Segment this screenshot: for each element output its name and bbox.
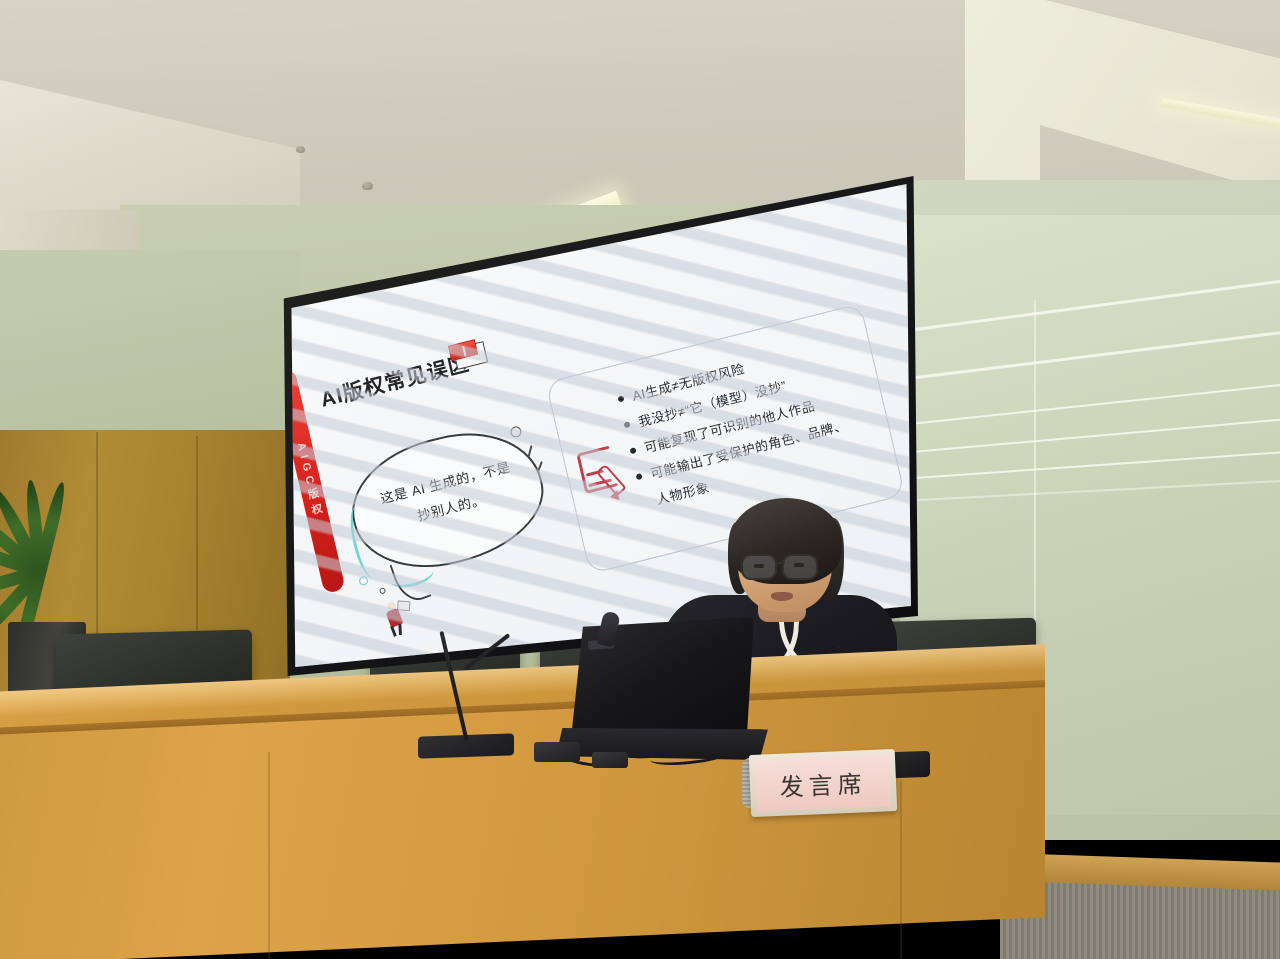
speech-bubble: 这是 AI 生成的，不是 抄别人的。 xyxy=(340,415,556,585)
mouth xyxy=(771,592,793,601)
nameplate: 发言席 xyxy=(749,749,897,817)
decorative-dash xyxy=(528,445,533,457)
podium-desk-front xyxy=(0,687,1045,959)
eye xyxy=(794,563,804,567)
vcg-logo-text: VCG xyxy=(704,180,739,202)
nameplate-insert: 发言席 xyxy=(755,754,891,812)
decorative-dot xyxy=(509,425,522,438)
slide-side-tab-label: AIGC版权 xyxy=(293,441,326,521)
left-wall-upper xyxy=(0,250,300,450)
sprinkler-head-icon xyxy=(296,146,305,153)
decorative-dot xyxy=(358,575,369,586)
mini-person-illustration xyxy=(379,599,412,640)
bullet-dot-icon xyxy=(624,421,631,428)
vcg-flower-mark-icon xyxy=(740,176,780,201)
bullet-dot-icon xyxy=(630,447,637,454)
desk-device[interactable] xyxy=(592,752,628,768)
slide-title: AI版权常见误区 xyxy=(317,348,472,414)
decorative-dot xyxy=(379,587,386,594)
glasses-bridge xyxy=(776,562,785,564)
bullet-dot-icon xyxy=(636,473,643,480)
bullet-dot-icon xyxy=(617,395,624,402)
potted-palm-plant xyxy=(0,505,125,635)
decorative-dash xyxy=(537,461,543,473)
eye xyxy=(754,564,764,568)
nameplate-text: 发言席 xyxy=(779,764,867,803)
desk-panel-seam xyxy=(268,752,270,959)
warning-screen-icon xyxy=(448,337,490,372)
desk-panel-seam xyxy=(900,780,902,959)
glasses-icon xyxy=(782,554,818,580)
conference-room-scene: VCG AIGC版权 AI版权常见误区 xyxy=(0,0,1280,959)
desk-device[interactable] xyxy=(534,742,580,762)
